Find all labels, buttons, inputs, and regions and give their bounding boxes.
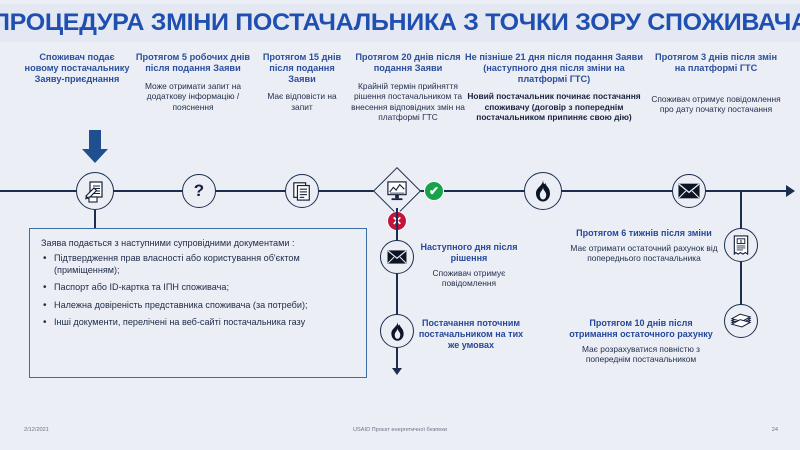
footer-date: 2/12/2021: [24, 427, 49, 433]
column-fifteen-days: Протягом 15 днів після подання Заяви Має…: [256, 52, 348, 112]
connector-reject-2: [396, 274, 398, 318]
footer-page-number: 24: [772, 427, 778, 433]
connector-reject-arrowhead: [392, 368, 402, 375]
list-item: Належна довіреність представника спожива…: [41, 300, 356, 312]
callout-body: Має розрахуватися повністю з попереднім …: [566, 344, 716, 365]
callout-supply-current-supplier: Постачання поточним постачальником на ти…: [418, 318, 524, 350]
node-answer-documents[interactable]: [285, 174, 319, 208]
column-five-working-days: Протягом 5 робочих днів після подання За…: [134, 52, 252, 112]
callout-heading: Протягом 6 тижнів після зміни: [570, 228, 718, 239]
callout-next-day-after-decision: Наступного дня після рішення Споживач от…: [420, 242, 518, 289]
gas-flame-icon: [388, 321, 407, 342]
column-heading: Протягом 5 робочих днів після подання За…: [134, 52, 252, 74]
column-heading: Протягом 3 днів після змін на платформі …: [650, 52, 782, 74]
invoice-icon: $: [732, 235, 750, 255]
documents-requirements-box: Заява подається з наступними супровідним…: [29, 228, 367, 378]
callout-body: Має отримати остаточний рахунок від попе…: [570, 243, 718, 264]
node-request-question[interactable]: ?: [182, 174, 216, 208]
callout-heading: Протягом 10 днів після отримання остаточ…: [566, 318, 716, 340]
callout-heading: Постачання поточним постачальником на ти…: [418, 318, 524, 350]
slide-canvas: ПРОЦЕДУРА ЗМІНИ ПОСТАЧАЛЬНИКА З ТОЧКИ ЗО…: [0, 0, 800, 450]
column-body: Споживач отримує повідомлення про дату п…: [650, 94, 782, 115]
node-continue-current-supplier[interactable]: [380, 314, 414, 348]
documents-stack-icon: [292, 181, 312, 201]
connector-billing-2: [740, 262, 742, 308]
node-final-payment[interactable]: [724, 304, 758, 338]
column-body: Може отримати запит на додаткову інформа…: [134, 81, 252, 113]
node-consumer-application[interactable]: [76, 172, 114, 210]
column-heading: Не пізніше 21 дня після подання Заяви (н…: [461, 52, 647, 84]
connector-reject-1: [396, 208, 398, 244]
connector-reject-3: [396, 348, 398, 370]
column-twenty-days: Протягом 20 днів після подання Заяви Кра…: [344, 52, 472, 123]
page-title: ПРОЦЕДУРА ЗМІНИ ПОСТАЧАЛЬНИКА З ТОЧКИ ЗО…: [0, 9, 800, 37]
gts-platform-icon: [386, 181, 408, 201]
callout-body: Споживач отримує повідомлення: [420, 268, 518, 289]
column-body: Крайній термін прийняття рішення постача…: [344, 81, 472, 123]
status-badge-approved: ✔: [424, 181, 444, 201]
list-item: Інші документи, перелічені на веб-сайті …: [41, 317, 356, 329]
slide-footer: 2/12/2021 USAID Проєкт енергетичної безп…: [0, 421, 800, 439]
question-mark-icon: ?: [194, 181, 204, 201]
check-icon: ✔: [429, 184, 439, 198]
column-twentyone-days: Не пізніше 21 дня після подання Заяви (н…: [461, 52, 647, 123]
node-start-notification[interactable]: [672, 174, 706, 208]
column-heading: Споживач подає новому постачальнику Заяв…: [23, 52, 131, 84]
callout-heading: Наступного дня після рішення: [420, 242, 518, 264]
callout-six-weeks-after-change: Протягом 6 тижнів після зміни Має отрима…: [570, 228, 718, 264]
column-heading: Протягом 20 днів після подання Заяви: [344, 52, 472, 74]
envelope-icon: [387, 250, 407, 264]
documents-intro: Заява подається з наступними супровідним…: [41, 237, 356, 249]
column-body: Має відповісти на запит: [256, 91, 348, 112]
title-bar: ПРОЦЕДУРА ЗМІНИ ПОСТАЧАЛЬНИКА З ТОЧКИ ЗО…: [0, 4, 800, 42]
column-three-days: Протягом 3 днів після змін на платформі …: [650, 52, 782, 115]
document-pen-icon: [83, 179, 107, 203]
documents-list: Підтвердження прав власності або користу…: [41, 253, 356, 329]
column-heading: Протягом 15 днів після подання Заяви: [256, 52, 348, 84]
node-final-invoice[interactable]: $: [724, 228, 758, 262]
money-stack-icon: [730, 313, 752, 329]
node-reject-notification[interactable]: [380, 240, 414, 274]
list-item: Паспорт або ID-картка та ІПН споживача;: [41, 282, 356, 294]
svg-text:$: $: [740, 239, 743, 245]
callout-ten-days-after-invoice: Протягом 10 днів після отримання остаточ…: [566, 318, 716, 365]
column-body: Новий постачальник починає постачання сп…: [461, 91, 647, 123]
connector-docs-box: [94, 210, 96, 228]
footer-center-text: USAID Проєкт енергетичної безпеки: [0, 427, 800, 433]
envelope-icon: [678, 183, 700, 199]
connector-billing-1: [740, 192, 742, 230]
gas-flame-icon: [532, 179, 554, 203]
timeline-arrowhead: [786, 185, 795, 197]
list-item: Підтвердження прав власності або користу…: [41, 253, 356, 277]
gts-platform-icon-wrap: [379, 176, 415, 206]
node-new-supplier-start[interactable]: [524, 172, 562, 210]
column-consumer-application: Споживач подає новому постачальнику Заяв…: [23, 52, 131, 84]
